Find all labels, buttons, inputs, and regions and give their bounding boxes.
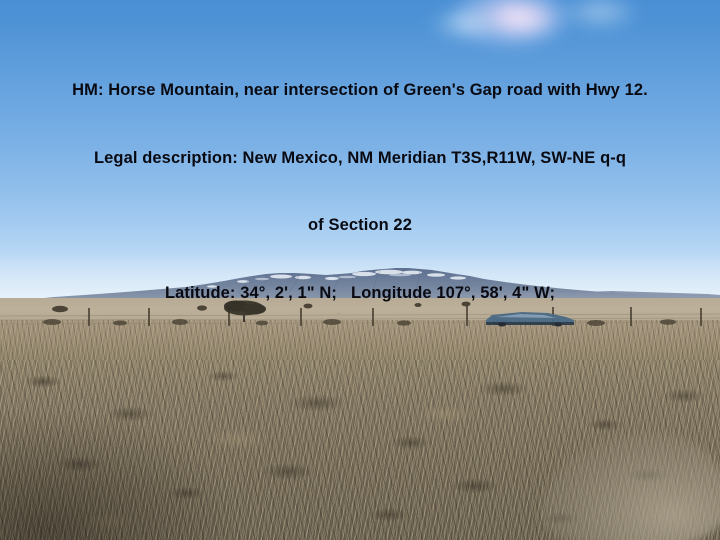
foreground-shadow xyxy=(0,410,240,540)
caption-line-4: Latitude: 34°, 2', 1" N; Longitude 107°,… xyxy=(0,282,720,305)
photograph: HM: Horse Mountain, near intersection of… xyxy=(0,0,720,540)
caption-line-2: Legal description: New Mexico, NM Meridi… xyxy=(0,147,720,170)
caption-line-3: of Section 22 xyxy=(0,214,720,237)
sandy-bare-ground xyxy=(540,432,720,540)
caption-line-1: HM: Horse Mountain, near intersection of… xyxy=(0,79,720,102)
foreground-grassland xyxy=(0,360,720,540)
caption-overlay: HM: Horse Mountain, near intersection of… xyxy=(0,34,720,349)
